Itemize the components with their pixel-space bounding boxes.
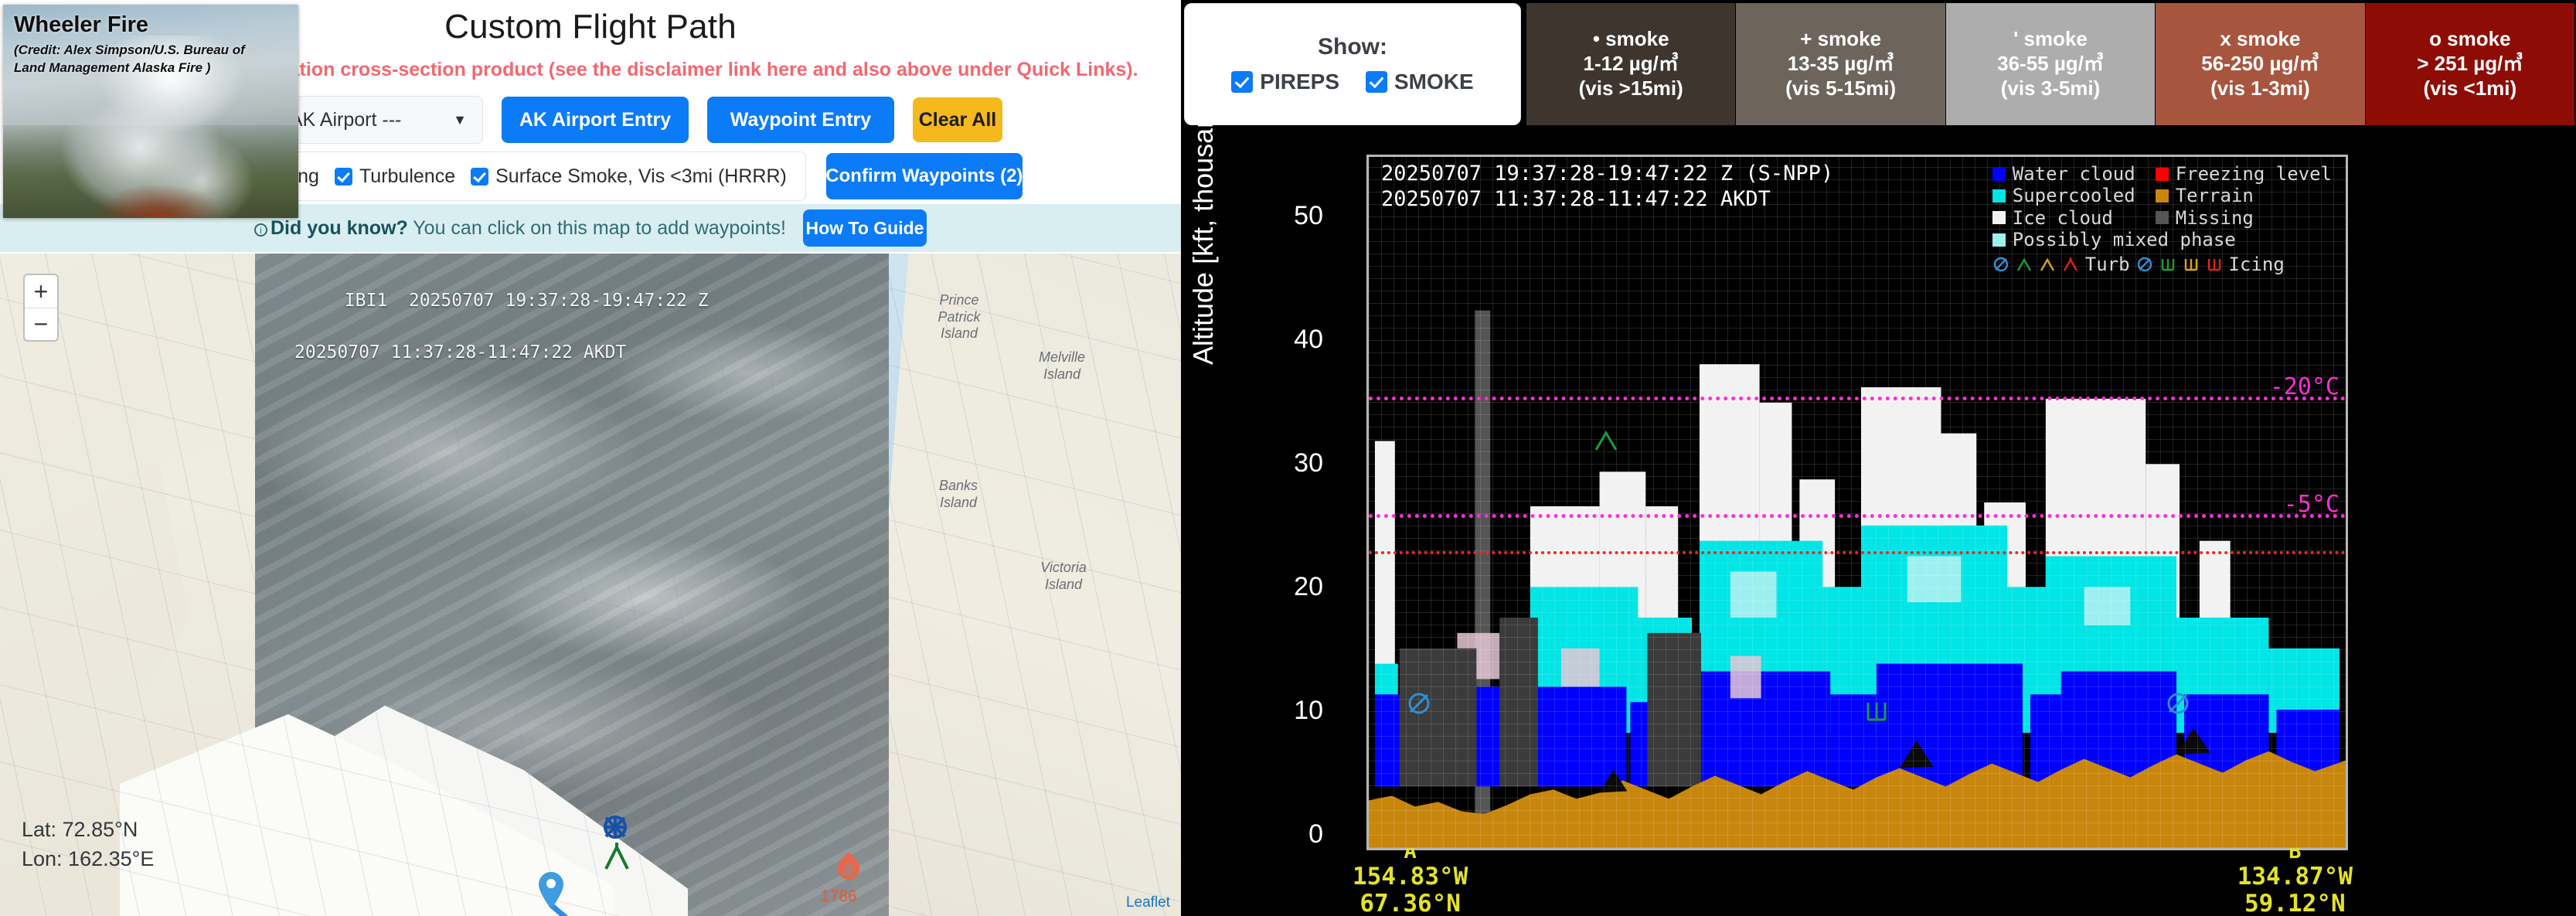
waypoint-pin-a[interactable] — [536, 870, 566, 911]
confirm-waypoints-button[interactable]: Confirm Waypoints (2) — [826, 153, 1023, 199]
legend-label: Possibly mixed phase — [2013, 229, 2236, 250]
checkbox-surface-smoke-label: Surface Smoke, Vis <3mi (HRRR) — [495, 165, 787, 188]
smoke-legend-vis: (vis >15mi) — [1579, 77, 1683, 101]
legend-freezing-level: Freezing level — [2156, 163, 2332, 185]
isotherm-minus5-label: -5°C — [2284, 491, 2339, 518]
map-timestamp-line2: 20250707 11:37:28-11:47:22 AKDT — [259, 340, 709, 366]
waypoint-entry-button[interactable]: Waypoint Entry — [707, 97, 894, 143]
legend-possibly-mixed-phase: Possibly mixed phase — [1992, 229, 2332, 250]
map-timestamp-overlay: IBI1 20250707 19:37:28-19:47:22 Z 202507… — [259, 263, 709, 417]
left-panel: Custom Flight Path This is an experiment… — [0, 0, 1181, 916]
wheeler-fire-photo-card: Wheeler Fire (Credit: Alex Simpson/U.S. … — [3, 5, 298, 218]
ak-airport-entry-button[interactable]: AK Airport Entry — [502, 97, 689, 143]
map-zoom-control[interactable]: + − — [23, 274, 59, 342]
cross-section-panel: Altitude [kft, thousand feet] 0 10 20 30… — [1181, 133, 2576, 916]
smoke-legend-value: 1-12 µg/㎥ — [1584, 52, 1679, 77]
isotherm-minus5-line — [1369, 514, 2346, 518]
endpoint-b-lat: 59.12°N — [2244, 890, 2346, 916]
turb-severe-icon — [2062, 256, 2079, 273]
checkbox-icon[interactable] — [471, 168, 488, 186]
how-to-guide-button[interactable]: How To Guide — [803, 209, 927, 247]
smoke-legend-vis: (vis 1-3mi) — [2210, 77, 2310, 101]
map-label-melville: MelvilleIsland — [1033, 349, 1091, 383]
endpoint-b: B 134.87°W 59.12°N — [2237, 840, 2353, 916]
turb-light-icon — [2016, 256, 2033, 273]
smoke-legend-bar: Show: PIREPS SMOKE • smoke 1-12 µg/㎥ — [1181, 0, 2576, 133]
legend-symbols-row: Turb Icing — [1992, 254, 2332, 275]
did-you-know-bold: Did you know? — [271, 217, 408, 239]
legend-label: Supercooled — [2013, 185, 2135, 206]
smoke-legend-vis: (vis <1mi) — [2423, 77, 2516, 101]
checkbox-smoke[interactable]: SMOKE — [1366, 70, 1474, 94]
pirep-turbulence-icon[interactable] — [603, 841, 631, 872]
smoke-legend-vis: (vis 3-5mi) — [2001, 77, 2101, 101]
app-root: Custom Flight Path This is an experiment… — [0, 0, 2576, 916]
checkbox-pireps-label: PIREPS — [1260, 70, 1339, 94]
smoke-legend-symbol: x smoke — [2220, 27, 2300, 52]
freezing-level-line — [1369, 551, 2346, 554]
map-lat-value: Lat: 72.85°N — [22, 816, 154, 845]
chevron-down-icon: ▼ — [453, 112, 467, 128]
legend-water-cloud: Water cloud — [1992, 163, 2135, 185]
legend-label: Terrain — [2176, 185, 2254, 206]
did-you-know-text: iDid you know? You can click on this map… — [254, 217, 786, 240]
endpoint-a-lat: 67.36°N — [1359, 890, 1461, 916]
checkbox-surface-smoke[interactable]: Surface Smoke, Vis <3mi (HRRR) — [471, 165, 787, 188]
icing-severe-icon — [2206, 256, 2223, 273]
clear-all-button[interactable]: Clear All — [913, 97, 1002, 142]
photo-fire-glow — [96, 186, 219, 218]
y-tick-20: 20 — [1257, 572, 1323, 602]
legend-label: Missing — [2176, 207, 2254, 229]
endpoint-b-lon: 134.87°W — [2237, 863, 2353, 890]
cross-section-plot[interactable]: 20250707 19:37:28-19:47:22 Z (S-NPP) 202… — [1366, 155, 2348, 850]
zoom-in-button[interactable]: + — [25, 275, 57, 308]
icing-moderate-icon — [2183, 256, 2200, 273]
smoke-legend-cell-1: • smoke 1-12 µg/㎥ (vis >15mi) — [1526, 3, 1735, 125]
turb-moderate-icon — [2039, 256, 2056, 273]
smoke-legend-value: 13-35 µg/㎥ — [1788, 52, 1894, 77]
y-tick-30: 30 — [1257, 448, 1323, 478]
legend-turb-label: Turb — [2085, 254, 2130, 275]
legend-supercooled: Supercooled — [1992, 185, 2135, 206]
map-label-banks: Banks Island — [920, 478, 997, 511]
xsec-turb-icon[interactable] — [1593, 427, 1619, 454]
map-label-victoria: VictoriaIsland — [1033, 560, 1094, 593]
legend-label: Ice cloud — [2013, 207, 2113, 229]
smoke-legend-value: > 251 µg/㎥ — [2417, 52, 2523, 77]
checkbox-pireps[interactable]: PIREPS — [1231, 70, 1339, 94]
icing-none-icon — [2136, 256, 2153, 273]
isotherm-minus20-label: -20°C — [2270, 373, 2339, 400]
photo-credit: (Credit: Alex Simpson/U.S. Bureau of Lan… — [14, 42, 269, 77]
leaflet-map[interactable]: IBI1 20250707 19:37:28-19:47:22 Z 202507… — [0, 254, 1181, 916]
photo-title: Wheeler Fire — [14, 12, 148, 38]
smoke-legend-cell-4: x smoke 56-250 µg/㎥ (vis 1-3mi) — [2155, 3, 2364, 125]
checkbox-icon[interactable] — [335, 168, 352, 186]
legend-missing: Missing — [2156, 207, 2332, 229]
turb-none-icon — [1992, 256, 2009, 273]
pirep-icing-icon[interactable] — [600, 812, 631, 843]
fire-marker-label: 1786 — [821, 887, 857, 906]
cross-section-endpoints: A 154.83°W 67.36°N B 134.87°W 59.12°N — [1366, 840, 2348, 911]
legend-icing-label: Icing — [2229, 254, 2285, 275]
zoom-out-button[interactable]: − — [25, 308, 57, 340]
legend-terrain: Terrain — [2156, 185, 2332, 206]
checkbox-turbulence-label: Turbulence — [359, 165, 455, 188]
y-tick-50: 50 — [1257, 201, 1323, 231]
smoke-legend-symbol: + smoke — [1800, 27, 1881, 52]
show-card-options: PIREPS SMOKE — [1231, 70, 1473, 94]
y-tick-0: 0 — [1257, 819, 1323, 850]
legend-label: Water cloud — [2013, 163, 2135, 185]
smoke-legend-cells: • smoke 1-12 µg/㎥ (vis >15mi) + smoke 13… — [1526, 3, 2574, 125]
map-lon-value: Lon: 162.35°E — [22, 845, 154, 874]
legend-label: Freezing level — [2176, 163, 2332, 185]
checkbox-icon[interactable] — [1366, 71, 1387, 93]
smoke-legend-cell-3: ' smoke 36-55 µg/㎥ (vis 3-5mi) — [1945, 3, 2155, 125]
checkbox-smoke-label: SMOKE — [1394, 70, 1474, 94]
smoke-legend-value: 36-55 µg/㎥ — [1997, 52, 2104, 77]
legend-ice-cloud: Ice cloud — [1992, 207, 2135, 229]
plot-title: 20250707 19:37:28-19:47:22 Z (S-NPP) 202… — [1381, 162, 1833, 213]
smoke-legend-cell-2: + smoke 13-35 µg/㎥ (vis 5-15mi) — [1735, 3, 1945, 125]
plot-title-line1: 20250707 19:37:28-19:47:22 Z (S-NPP) — [1381, 162, 1833, 186]
show-card-title: Show: — [1318, 34, 1387, 60]
checkbox-turbulence[interactable]: Turbulence — [335, 165, 455, 188]
icing-light-icon — [2159, 256, 2176, 273]
map-timestamp-line1: IBI1 20250707 19:37:28-19:47:22 Z — [345, 291, 709, 311]
map-coordinate-readout: Lat: 72.85°N Lon: 162.35°E — [22, 816, 154, 874]
y-axis-title: Altitude [kft, thousand feet] — [1187, 36, 1220, 365]
isotherm-minus20-line — [1369, 397, 2346, 400]
smoke-legend-symbol: ' smoke — [2013, 27, 2088, 52]
plot-legend: Water cloud Freezing level Supercooled T… — [1992, 163, 2332, 276]
leaflet-attribution[interactable]: Leaflet — [1126, 894, 1170, 911]
smoke-legend-symbol: o smoke — [2429, 27, 2511, 52]
y-axis-ticks: 0 10 20 30 40 50 — [1257, 133, 1323, 844]
smoke-legend-value: 56-250 µg/㎥ — [2201, 52, 2319, 77]
right-panel: Show: PIREPS SMOKE • smoke 1-12 µg/㎥ — [1181, 0, 2576, 916]
endpoint-a-lon: 154.83°W — [1353, 863, 1468, 890]
info-icon: i — [254, 223, 267, 237]
y-tick-40: 40 — [1257, 325, 1323, 355]
map-label-prince-patrick: PrincePatrickIsland — [924, 292, 994, 342]
smoke-legend-vis: (vis 5-15mi) — [1785, 77, 1896, 101]
xsec-pirep-icon[interactable] — [1406, 690, 1432, 717]
smoke-legend-cell-5: o smoke > 251 µg/㎥ (vis <1mi) — [2365, 3, 2574, 125]
xsec-icing-icon[interactable] — [1863, 698, 1890, 724]
fire-marker[interactable] — [832, 850, 866, 887]
y-tick-10: 10 — [1257, 696, 1323, 726]
checkbox-icon[interactable] — [1231, 71, 1253, 93]
endpoint-a: A 154.83°W 67.36°N — [1353, 840, 1468, 916]
xsec-pirep-icon[interactable] — [2165, 690, 2191, 717]
smoke-legend-symbol: • smoke — [1593, 27, 1669, 52]
did-you-know-body: You can click on this map to add waypoin… — [413, 217, 786, 239]
pireps-smoke-filter-card: Show: PIREPS SMOKE — [1184, 3, 1521, 125]
plot-title-line2: 20250707 11:37:28-11:47:22 AKDT — [1381, 187, 1771, 211]
